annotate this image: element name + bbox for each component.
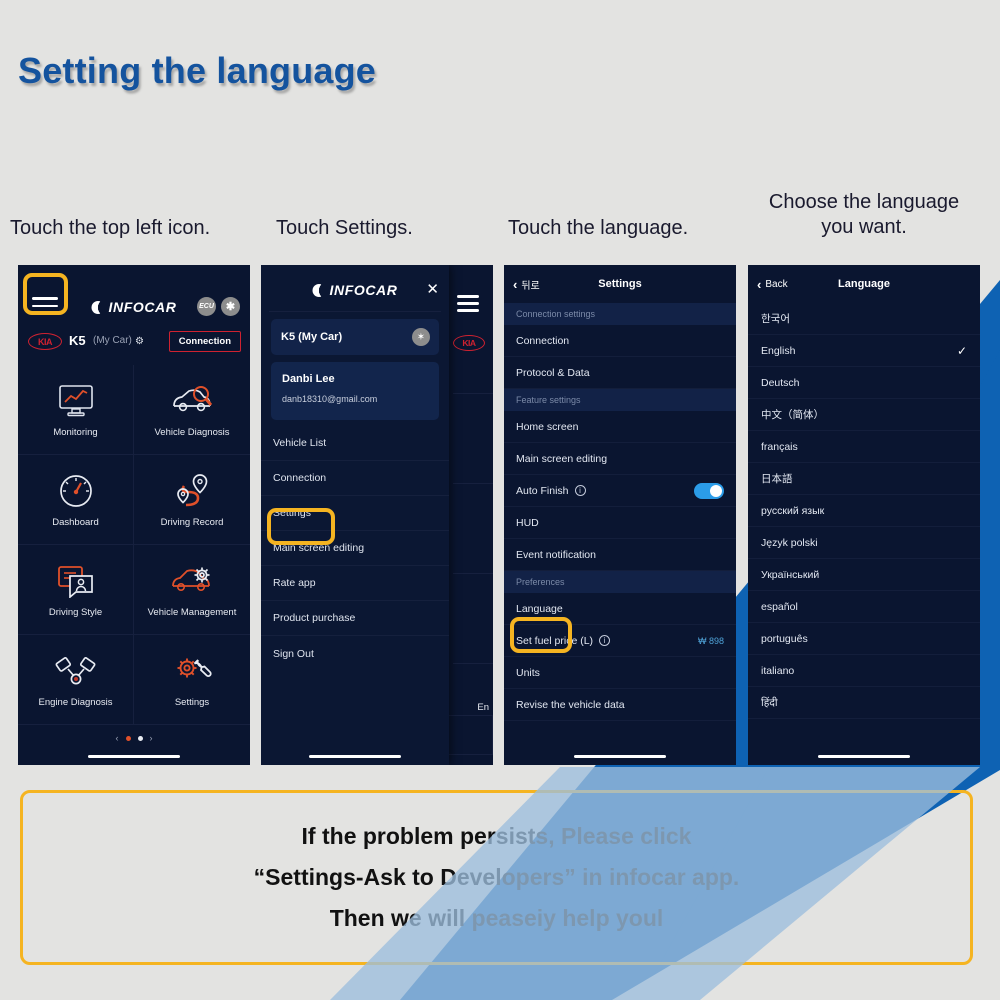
language-row[interactable]: italiano: [748, 655, 980, 687]
row-label: Units: [516, 667, 540, 679]
grid-item-label: Driving Style: [49, 607, 102, 618]
phone-screenshot-home: INFOCAR ECU ✱ KIA K5 (My Car) ⚙ Connecti…: [18, 265, 250, 765]
back-button[interactable]: ‹ 뒤로: [513, 277, 540, 292]
home-car-row: KIA K5 (My Car) ⚙ Connection: [18, 327, 250, 361]
drawer-item-connection[interactable]: Connection: [261, 461, 449, 496]
drawer-item-main-screen-editing[interactable]: Main screen editing: [261, 531, 449, 566]
car-magnifier-icon: [170, 382, 214, 420]
bluetooth-badge[interactable]: ✱: [221, 297, 240, 316]
language-label: русский язык: [761, 505, 824, 517]
logo-mark-icon: [92, 301, 105, 314]
row-label-wrap: Set fuel price (L) i: [516, 635, 610, 647]
language-row[interactable]: हिंदी: [748, 687, 980, 719]
side-drawer: INFOCAR ✕ K5 (My Car) ✶ Danbi Lee danb18…: [261, 265, 449, 765]
vehicle-card[interactable]: K5 (My Car) ✶: [271, 319, 439, 355]
callout-line-2: “Settings-Ask to Developers” in infocar …: [254, 864, 740, 891]
language-label: English: [761, 345, 795, 357]
kia-logo-icon-behind: KIA: [453, 335, 485, 351]
pager-dot-2[interactable]: [138, 736, 143, 741]
language-label: français: [761, 441, 798, 453]
close-icon[interactable]: ✕: [426, 282, 439, 297]
account-card[interactable]: Danbi Lee danb18310@gmail.com: [271, 362, 439, 420]
poster-root: Setting the language Touch the top left …: [0, 0, 1000, 1000]
home-menu-grid: Monitoring Vehicle Diagnosis Dashboard D…: [18, 365, 250, 725]
page-title: Setting the language: [18, 50, 376, 92]
home-indicator: [818, 755, 910, 759]
language-label: italiano: [761, 665, 794, 677]
chevron-left-icon: ‹: [757, 277, 761, 292]
kia-logo-icon: KIA: [28, 333, 62, 350]
row-label: Revise the vehicle data: [516, 699, 625, 711]
info-icon[interactable]: i: [599, 635, 610, 646]
account-name: Danbi Lee: [282, 373, 428, 385]
drawer-item-sign-out[interactable]: Sign Out: [261, 636, 449, 671]
caption-2: Touch Settings.: [276, 216, 492, 241]
fuel-price-value: ₩ 898: [698, 636, 724, 646]
divider: [269, 311, 441, 312]
language-row[interactable]: português: [748, 623, 980, 655]
language-row[interactable]: Język polski: [748, 527, 980, 559]
car-subtitle: (My Car): [93, 335, 132, 346]
logo-text: INFOCAR: [330, 282, 398, 298]
grid-item-driving-record[interactable]: Driving Record: [134, 455, 250, 545]
settings-row-hud[interactable]: HUD: [504, 507, 736, 539]
grid-item-label: Engine Diagnosis: [39, 697, 113, 708]
vehicle-name: K5 (My Car): [281, 331, 342, 343]
language-label: español: [761, 601, 798, 613]
section-header-feature: Feature settings: [504, 389, 736, 411]
hamburger-icon-behind[interactable]: [457, 295, 479, 316]
language-label: Język polski: [761, 537, 818, 549]
language-label: 한국어: [761, 311, 790, 326]
grid-item-label: Settings: [175, 697, 209, 708]
grid-item-label: Vehicle Management: [148, 607, 237, 618]
infocar-logo: INFOCAR: [92, 299, 177, 315]
caption-4: Choose the languageyou want.: [740, 190, 988, 240]
settings-row-main-screen-editing[interactable]: Main screen editing: [504, 443, 736, 475]
language-row[interactable]: English✓: [748, 335, 980, 367]
caption-1: Touch the top left icon.: [10, 216, 265, 241]
language-label: português: [761, 633, 808, 645]
check-icon: ✓: [957, 344, 967, 358]
monitor-chart-icon: [56, 382, 96, 420]
status-badges: ECU ✱: [197, 297, 240, 316]
logo-text: INFOCAR: [109, 299, 177, 315]
settings-row-auto-finish[interactable]: Auto Finish i: [504, 475, 736, 507]
person-card-icon: [56, 562, 96, 600]
car-model: K5: [69, 333, 86, 348]
infocar-logo: INFOCAR: [313, 282, 398, 298]
language-row[interactable]: 日本語: [748, 463, 980, 495]
language-list: 한국어English✓Deutsch中文（简体）français日本語русск…: [748, 303, 980, 719]
callout-line-3: Then we will peaseiy help youl: [330, 905, 664, 932]
home-topbar: INFOCAR ECU ✱: [18, 277, 250, 311]
language-label: 日本語: [761, 471, 793, 486]
home-pager[interactable]: ‹ ›: [18, 733, 250, 743]
language-label: Deutsch: [761, 377, 800, 389]
home-indicator: [574, 755, 666, 759]
language-row[interactable]: français: [748, 431, 980, 463]
settings-row-event-notification[interactable]: Event notification: [504, 539, 736, 571]
row-label: Event notification: [516, 549, 596, 561]
grid-item-label: Monitoring: [53, 427, 97, 438]
grid-item-settings[interactable]: Settings: [134, 635, 250, 725]
language-row[interactable]: 中文（简体）: [748, 399, 980, 431]
language-row[interactable]: Deutsch: [748, 367, 980, 399]
chevron-left-icon: ‹: [513, 277, 517, 292]
row-label: Connection: [516, 335, 569, 347]
settings-row-set-fuel-price[interactable]: Set fuel price (L) i ₩ 898: [504, 625, 736, 657]
pager-prev-icon[interactable]: ‹: [116, 733, 119, 743]
drawer-item-settings[interactable]: Settings: [261, 496, 449, 531]
drawer-item-product-purchase[interactable]: Product purchase: [261, 601, 449, 636]
logo-mark-icon: [313, 284, 326, 297]
back-label: Back: [765, 279, 787, 290]
grid-item-label: Dashboard: [52, 517, 98, 528]
grid-item-vehicle-management[interactable]: Vehicle Management: [134, 545, 250, 635]
language-header: ‹ Back Language: [748, 265, 980, 303]
footer-callout: If the problem persists, Please click “S…: [20, 790, 973, 965]
grid-item-vehicle-diagnosis[interactable]: Vehicle Diagnosis: [134, 365, 250, 455]
drawer-item-rate-app[interactable]: Rate app: [261, 566, 449, 601]
phone-screenshot-settings: ‹ 뒤로 Settings Connection settings Connec…: [504, 265, 736, 765]
pager-dot-1[interactable]: [126, 736, 131, 741]
row-label: Main screen editing: [516, 453, 607, 465]
settings-header: ‹ 뒤로 Settings: [504, 265, 736, 303]
grid-item-dashboard[interactable]: Dashboard: [18, 455, 134, 545]
back-button[interactable]: ‹ Back: [757, 277, 788, 292]
row-label: HUD: [516, 517, 539, 529]
caption-3: Touch the language.: [508, 216, 748, 241]
settings-row-language[interactable]: Language: [504, 593, 736, 625]
phone-screenshot-drawer: KIA En INFOCAR ✕ K5 (My Car) ✶ Da: [261, 265, 493, 765]
grid-item-monitoring[interactable]: Monitoring: [18, 365, 134, 455]
home-indicator: [309, 755, 401, 759]
language-row[interactable]: русский язык: [748, 495, 980, 527]
row-label: Auto Finish: [516, 485, 569, 497]
language-label: 中文（简体）: [761, 407, 824, 422]
grid-item-driving-style[interactable]: Driving Style: [18, 545, 134, 635]
hamburger-icon[interactable]: [32, 297, 58, 315]
settings-row-revise-vehicle-data[interactable]: Revise the vehicle data: [504, 689, 736, 721]
settings-row-connection[interactable]: Connection: [504, 325, 736, 357]
language-row[interactable]: Український: [748, 559, 980, 591]
section-header-preferences: Preferences: [504, 571, 736, 593]
row-label: Home screen: [516, 421, 578, 433]
language-label: Український: [761, 569, 819, 581]
settings-row-protocol-data[interactable]: Protocol & Data: [504, 357, 736, 389]
pager-next-icon[interactable]: ›: [150, 733, 153, 743]
route-pin-icon: [172, 472, 212, 510]
connection-button[interactable]: Connection: [169, 331, 241, 352]
section-header-connection: Connection settings: [504, 303, 736, 325]
row-label: Language: [516, 603, 563, 615]
info-icon[interactable]: i: [575, 485, 586, 496]
bluetooth-icon[interactable]: ✶: [412, 328, 430, 346]
account-email: danb18310@gmail.com: [282, 394, 428, 404]
grid-item-engine-diagnosis[interactable]: Engine Diagnosis: [18, 635, 134, 725]
home-indicator: [88, 755, 180, 759]
row-label: Set fuel price (L): [516, 635, 593, 647]
row-label: Protocol & Data: [516, 367, 590, 379]
settings-row-home-screen[interactable]: Home screen: [504, 411, 736, 443]
drawer-item-vehicle-list[interactable]: Vehicle List: [261, 426, 449, 461]
car-settings-icon[interactable]: ⚙: [135, 336, 144, 347]
auto-finish-toggle[interactable]: [694, 483, 724, 499]
gear-wrench-icon: [172, 652, 212, 690]
back-label: 뒤로: [521, 277, 539, 292]
ecu-badge[interactable]: ECU: [197, 297, 216, 316]
language-label: हिंदी: [761, 696, 778, 710]
callout-line-1: If the problem persists, Please click: [302, 823, 692, 850]
behind-label: En: [477, 702, 489, 713]
grid-item-label: Driving Record: [161, 517, 224, 528]
piston-icon: [55, 652, 97, 690]
language-row[interactable]: 한국어: [748, 303, 980, 335]
car-gear-icon: [170, 562, 214, 600]
settings-row-units[interactable]: Units: [504, 657, 736, 689]
grid-item-label: Vehicle Diagnosis: [155, 427, 230, 438]
drawer-header: INFOCAR ✕: [261, 265, 449, 311]
language-row[interactable]: español: [748, 591, 980, 623]
row-label-wrap: Auto Finish i: [516, 485, 586, 497]
gauge-icon: [58, 472, 94, 510]
phone-screenshot-language: ‹ Back Language 한국어English✓Deutsch中文（简体）…: [748, 265, 980, 765]
